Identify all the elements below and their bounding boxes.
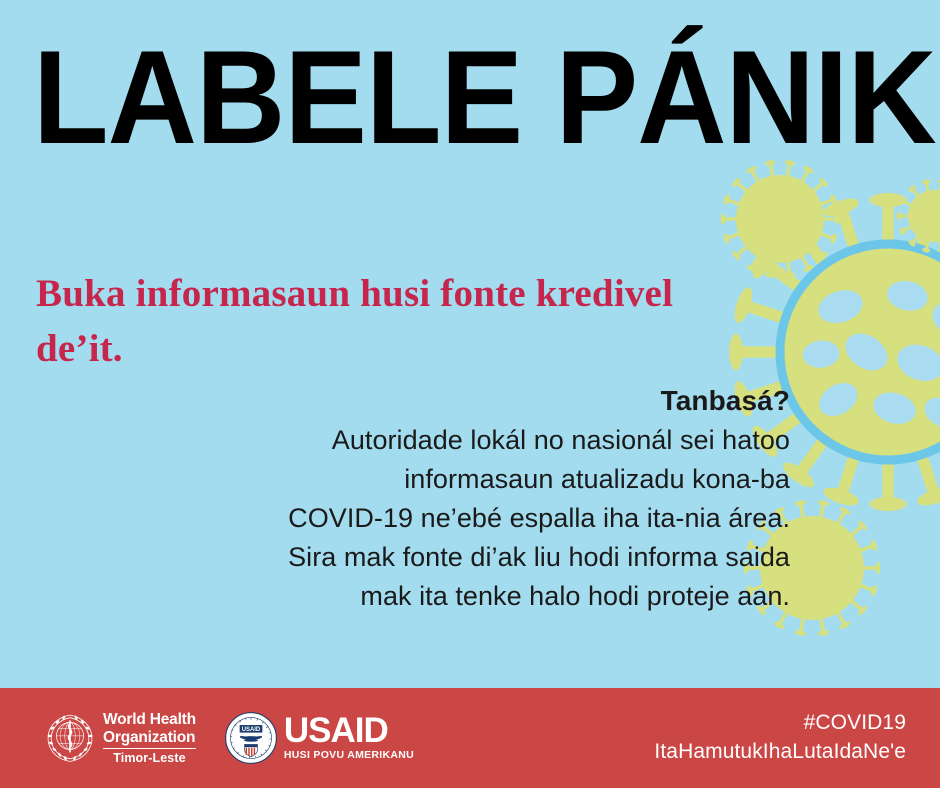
who-country: Timor-Leste (103, 751, 196, 765)
who-divider (103, 748, 196, 749)
virus-small-right-edge (897, 179, 940, 254)
why-label: Tanbasá? (150, 383, 790, 419)
hashtag-group: #COVID19 ItaHamutukIhaLutaIdaNe'e (654, 709, 906, 767)
who-name-line2: Organization (103, 729, 196, 746)
body-line: Sira mak fonte di’ak liu hodi informa sa… (150, 538, 790, 577)
covid-poster: LABELE PÁNIKU! Buka informasaun husi fon… (0, 0, 940, 788)
who-logotype: World Health Organization Timor-Leste (103, 711, 196, 765)
who-logo: World Health Organization Timor-Leste (44, 711, 196, 765)
subheading: Buka informasaun husi fonte kredivel de’… (36, 266, 676, 377)
logo-group: World Health Organization Timor-Leste (44, 711, 414, 765)
virus-spikes (721, 160, 840, 279)
usaid-tagline: HUSI POVU AMERIKANU (284, 749, 414, 761)
hashtag-campaign: ItaHamutukIhaLutaIdaNe'e (654, 738, 906, 767)
usaid-name: USAID (284, 715, 414, 748)
virus-body (908, 190, 940, 242)
virus-body (736, 175, 824, 263)
body-line: informasaun atualizadu kona-ba (150, 460, 790, 499)
virus-small-top (721, 160, 840, 279)
who-emblem-icon (44, 712, 96, 764)
virus-spikes (897, 179, 940, 254)
virus-spots (801, 277, 940, 433)
footer-bar: World Health Organization Timor-Leste (0, 688, 940, 788)
usaid-logo: USAID (224, 711, 414, 765)
body-line: mak ita tenke halo hodi proteje aan. (150, 577, 790, 616)
svg-text:USAID: USAID (242, 727, 261, 733)
usaid-seal-icon: USAID (224, 711, 278, 765)
hashtag-covid19: #COVID19 (654, 709, 906, 738)
virus-body (780, 244, 940, 460)
usaid-logotype: USAID HUSI POVU AMERIKANU (284, 715, 414, 761)
body-line: COVID-19 ne’ebé espalla iha ita-nia área… (150, 499, 790, 538)
body-line: Autoridade lokál no nasionál sei hatoo (150, 421, 790, 460)
who-name-line1: World Health (103, 711, 196, 728)
page-title: LABELE PÁNIKU! (33, 32, 940, 165)
body-text-block: Tanbasá? Autoridade lokál no nasionál se… (150, 383, 790, 617)
